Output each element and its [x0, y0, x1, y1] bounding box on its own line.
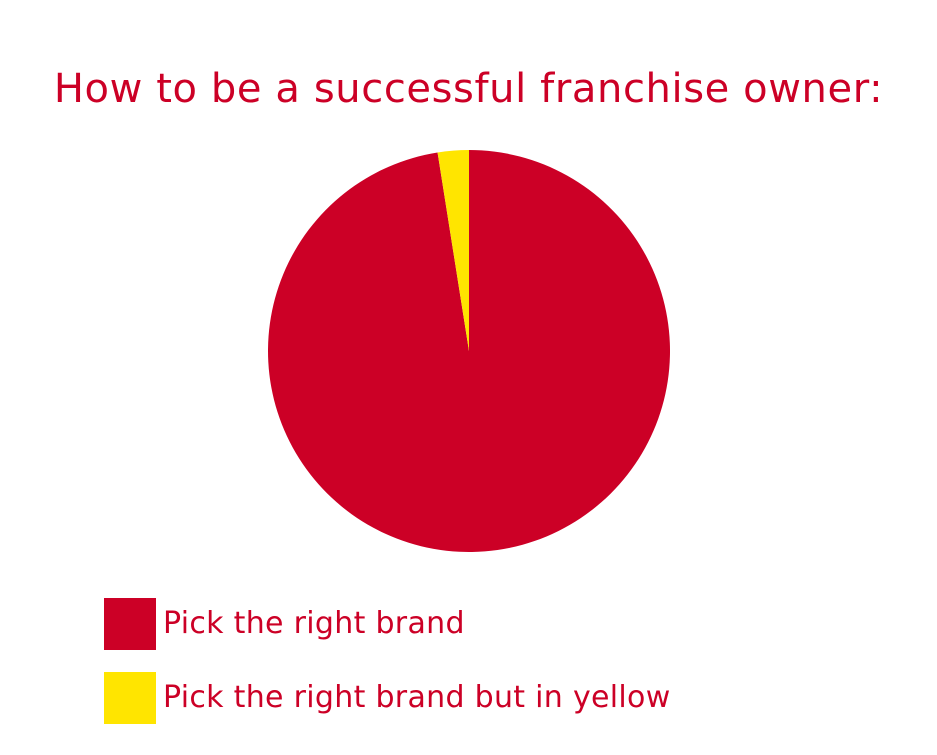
legend-swatch-red	[104, 598, 156, 650]
legend-item-pick-the-right-brand[interactable]: Pick the right brand	[104, 598, 804, 650]
legend-label-pick-the-right-brand-but-in-yellow: Pick the right brand but in yellow	[163, 672, 671, 724]
pie-chart	[268, 150, 670, 552]
chart-legend: Pick the right brand Pick the right bran…	[104, 598, 804, 724]
legend-item-pick-the-right-brand-but-in-yellow[interactable]: Pick the right brand but in yellow	[104, 672, 804, 724]
legend-swatch-yellow	[104, 672, 156, 724]
chart-title: How to be a successful franchise owner:	[0, 64, 937, 114]
legend-label-pick-the-right-brand: Pick the right brand	[163, 598, 465, 650]
pie-chart-svg	[268, 150, 670, 552]
pie-slice-pick-the-right-brand[interactable]	[268, 150, 670, 552]
chart-canvas: How to be a successful franchise owner: …	[0, 0, 937, 755]
